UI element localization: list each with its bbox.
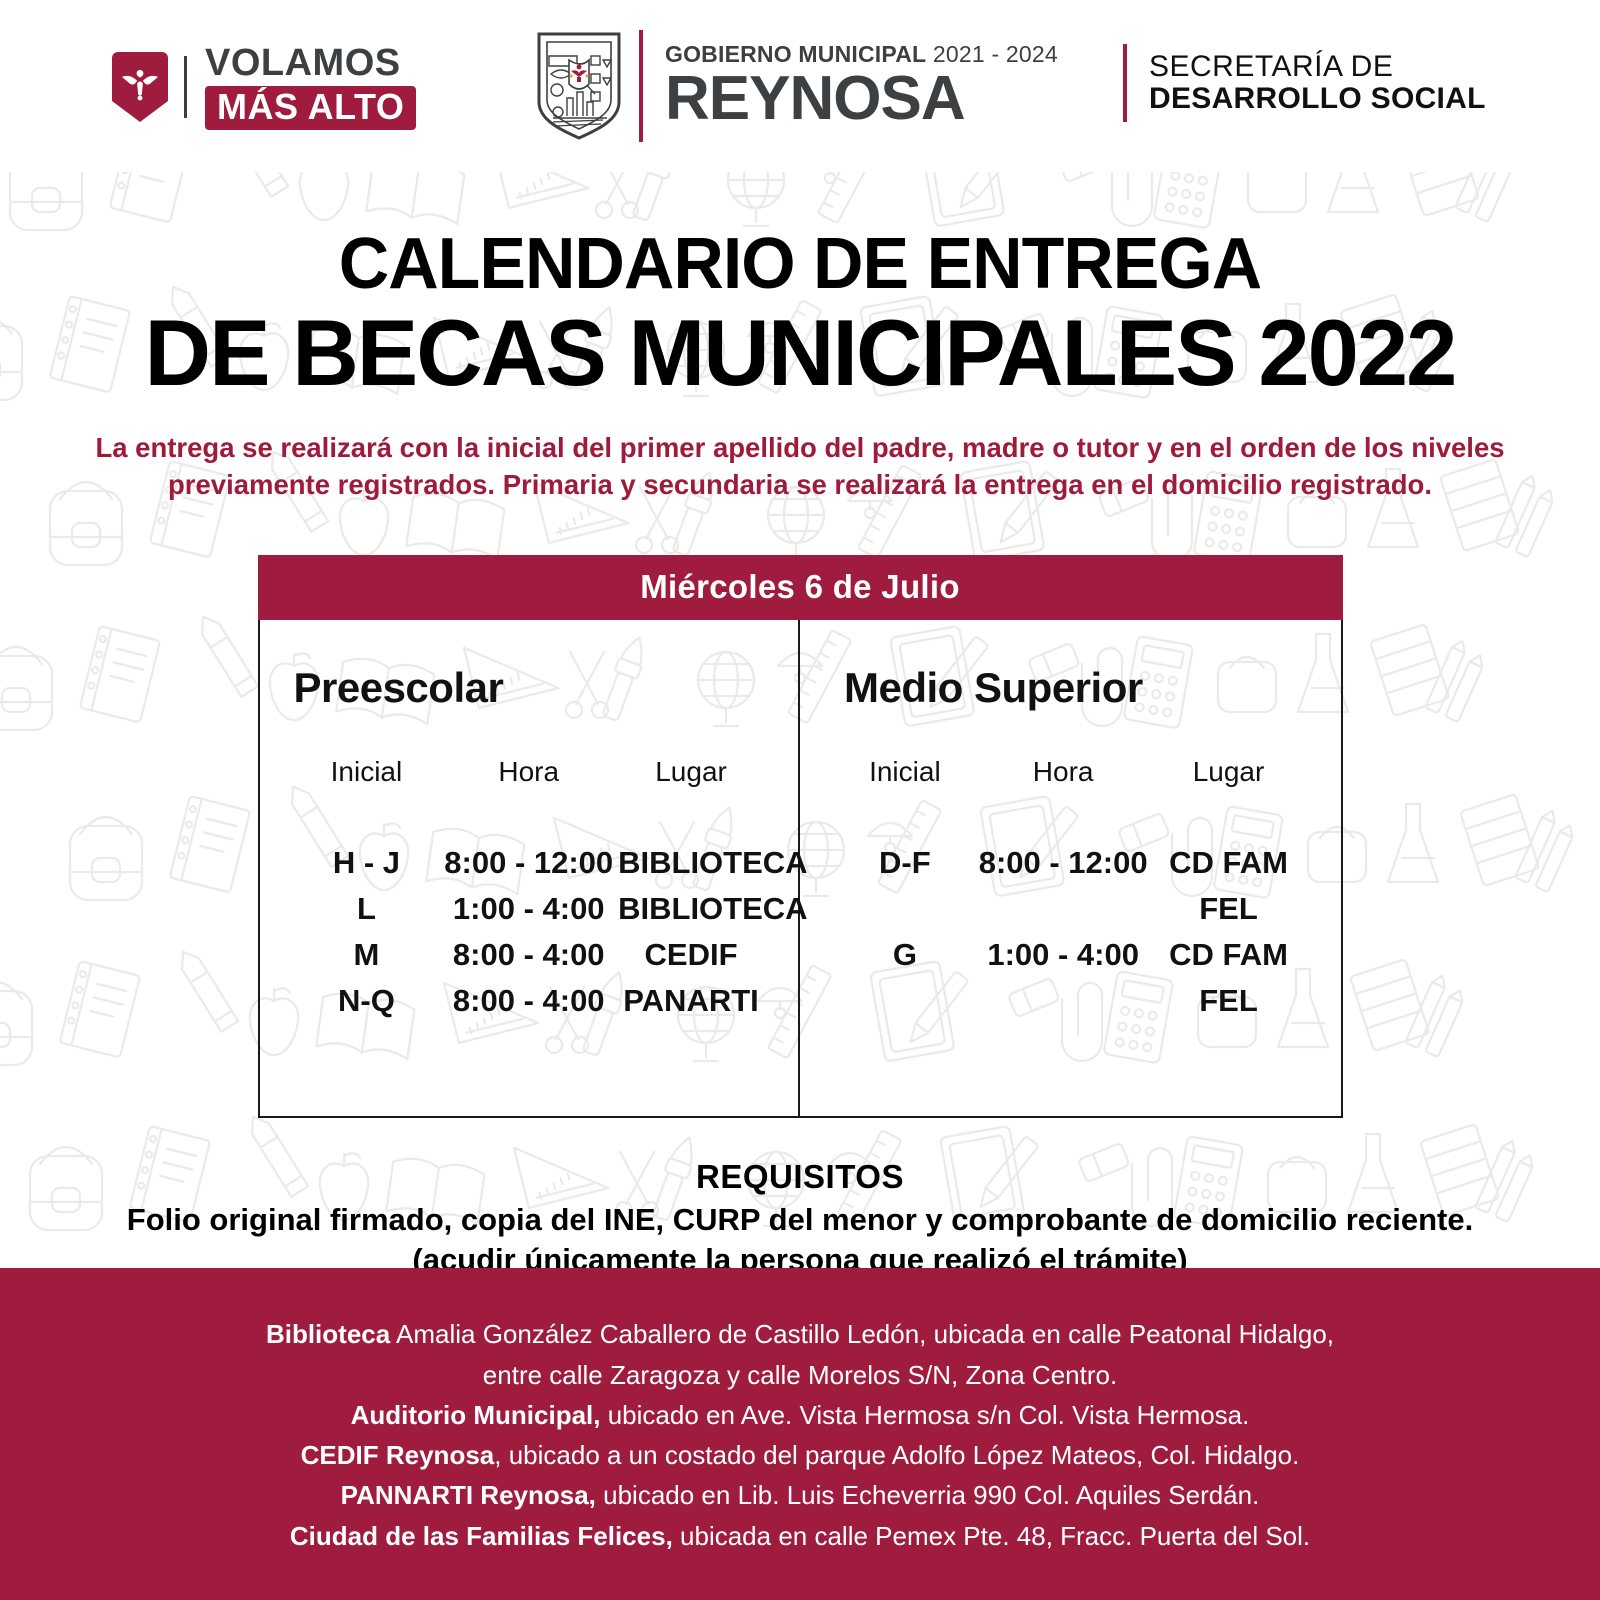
requisitos-line-1: Folio original firmado, copia del INE, C… (0, 1202, 1600, 1238)
cell-hora: 8:00 - 12:00 (439, 840, 618, 886)
cell-inicial: G (834, 932, 976, 1024)
cell-inicial: N-Q (294, 978, 440, 1024)
reynosa-coat-of-arms-icon (533, 30, 625, 142)
schedule-table: Miércoles 6 de Julio Preescolar Inicial … (258, 555, 1343, 1118)
cell-inicial: H - J (294, 840, 440, 886)
logo-divider (184, 56, 187, 118)
header-logo-bar: VOLAMOS MÁS ALTO (0, 0, 1600, 172)
footer-line: Ciudad de las Familias Felices, ubicada … (60, 1516, 1540, 1556)
table-row: H - J 8:00 - 12:00 BIBLIOTECA (294, 840, 765, 886)
eagle-shield-icon (112, 52, 168, 122)
cell-lugar: CD FAM FEL (1151, 932, 1307, 1024)
footer-line-bold: Auditorio Municipal, (351, 1400, 601, 1430)
footer-line-bold: Biblioteca (266, 1319, 390, 1349)
table-row: G 1:00 - 4:00 CD FAM FEL (834, 932, 1307, 1024)
footer-line-rest: entre calle Zaragoza y calle Morelos S/N… (483, 1360, 1117, 1390)
col-header-hora: Hora (439, 756, 618, 788)
column-headers-right: Inicial Hora Lugar (834, 756, 1307, 788)
cell-inicial: L (294, 886, 440, 932)
table-row: N-Q 8:00 - 4:00 PANARTI (294, 978, 765, 1024)
logo-divider-red (639, 30, 643, 142)
logo-volamos-mas-alto: VOLAMOS MÁS ALTO (112, 44, 416, 130)
title-line-2: DE BECAS MUNICIPALES 2022 (16, 304, 1584, 403)
cell-hora: 8:00 - 4:00 (439, 932, 618, 978)
cell-lugar: BIBLIOTECA (618, 840, 764, 886)
cell-hora: 8:00 - 12:00 (976, 840, 1151, 932)
footer-line: Biblioteca Amalia González Caballero de … (60, 1314, 1540, 1354)
secretaria-line2: DESARROLLO SOCIAL (1149, 83, 1486, 115)
volamos-line1: VOLAMOS (205, 44, 416, 82)
footer-line-rest: , ubicado a un costado del parque Adolfo… (494, 1440, 1299, 1470)
col-header-inicial: Inicial (834, 756, 976, 788)
subtitle-instructions: La entrega se realizará con la inicial d… (70, 429, 1530, 503)
col-header-hora: Hora (976, 756, 1151, 788)
col-header-lugar: Lugar (1151, 756, 1307, 788)
schedule-panel-medio-superior: Medio Superior Inicial Hora Lugar D-F 8:… (800, 620, 1341, 1116)
reynosa-wordmark: REYNOSA (665, 68, 1058, 130)
cell-inicial: M (294, 932, 440, 978)
schedule-date-header: Miércoles 6 de Julio (258, 555, 1343, 620)
footer-line: PANNARTI Reynosa, ubicado en Lib. Luis E… (60, 1475, 1540, 1515)
gobierno-municipal-label: GOBIERNO MUNICIPAL (665, 41, 926, 67)
cell-hora: 8:00 - 4:00 (439, 978, 618, 1024)
secretaria-line1: SECRETARÍA DE (1149, 51, 1486, 83)
administration-years: 2021 - 2024 (933, 41, 1058, 67)
table-row: M 8:00 - 4:00 CEDIF (294, 932, 765, 978)
footer-line: CEDIF Reynosa, ubicado a un costado del … (60, 1435, 1540, 1475)
footer-line-rest: ubicada en calle Pemex Pte. 48, Fracc. P… (673, 1521, 1310, 1551)
footer-line: Auditorio Municipal, ubicado en Ave. Vis… (60, 1395, 1540, 1435)
footer-line-rest: ubicado en Lib. Luis Echeverria 990 Col.… (596, 1480, 1259, 1510)
level-title-preescolar: Preescolar (294, 664, 765, 712)
footer-line-bold: Ciudad de las Familias Felices, (290, 1521, 673, 1551)
requisitos-section: REQUISITOS Folio original firmado, copia… (0, 1158, 1600, 1278)
footer-line: entre calle Zaragoza y calle Morelos S/N… (60, 1355, 1540, 1395)
volamos-line2: MÁS ALTO (205, 86, 416, 130)
col-header-inicial: Inicial (294, 756, 440, 788)
logo-secretaria-desarrollo-social: SECRETARÍA DE DESARROLLO SOCIAL (1123, 44, 1486, 122)
column-headers-left: Inicial Hora Lugar (294, 756, 765, 788)
cell-inicial: D-F (834, 840, 976, 932)
cell-hora: 1:00 - 4:00 (439, 886, 618, 932)
table-row: L 1:00 - 4:00 BIBLIOTECA (294, 886, 765, 932)
footer-line-bold: CEDIF Reynosa (301, 1440, 495, 1470)
cell-lugar: CD FAM FEL (1151, 840, 1307, 932)
requisitos-title: REQUISITOS (0, 1158, 1600, 1196)
footer-line-bold: PANNARTI Reynosa, (341, 1480, 596, 1510)
footer-line-rest: ubicado en Ave. Vista Hermosa s/n Col. V… (600, 1400, 1249, 1430)
page-title: CALENDARIO DE ENTREGA DE BECAS MUNICIPAL… (0, 228, 1600, 403)
logo-divider-red-2 (1123, 44, 1127, 122)
cell-hora: 1:00 - 4:00 (976, 932, 1151, 1024)
table-row: D-F 8:00 - 12:00 CD FAM FEL (834, 840, 1307, 932)
cell-lugar: BIBLIOTECA (618, 886, 764, 932)
level-title-medio-superior: Medio Superior (844, 664, 1307, 712)
cell-lugar: CEDIF (618, 932, 764, 978)
cell-lugar: PANARTI (618, 978, 764, 1024)
footer-locations: Biblioteca Amalia González Caballero de … (0, 1268, 1600, 1600)
logo-gobierno-municipal-reynosa: GOBIERNO MUNICIPAL 2021 - 2024 REYNOSA (533, 30, 1058, 142)
footer-line-rest: Amalia González Caballero de Castillo Le… (390, 1319, 1334, 1349)
col-header-lugar: Lugar (618, 756, 764, 788)
schedule-panel-preescolar: Preescolar Inicial Hora Lugar H - J 8:00… (260, 620, 801, 1116)
title-line-1: CALENDARIO DE ENTREGA (24, 228, 1576, 300)
